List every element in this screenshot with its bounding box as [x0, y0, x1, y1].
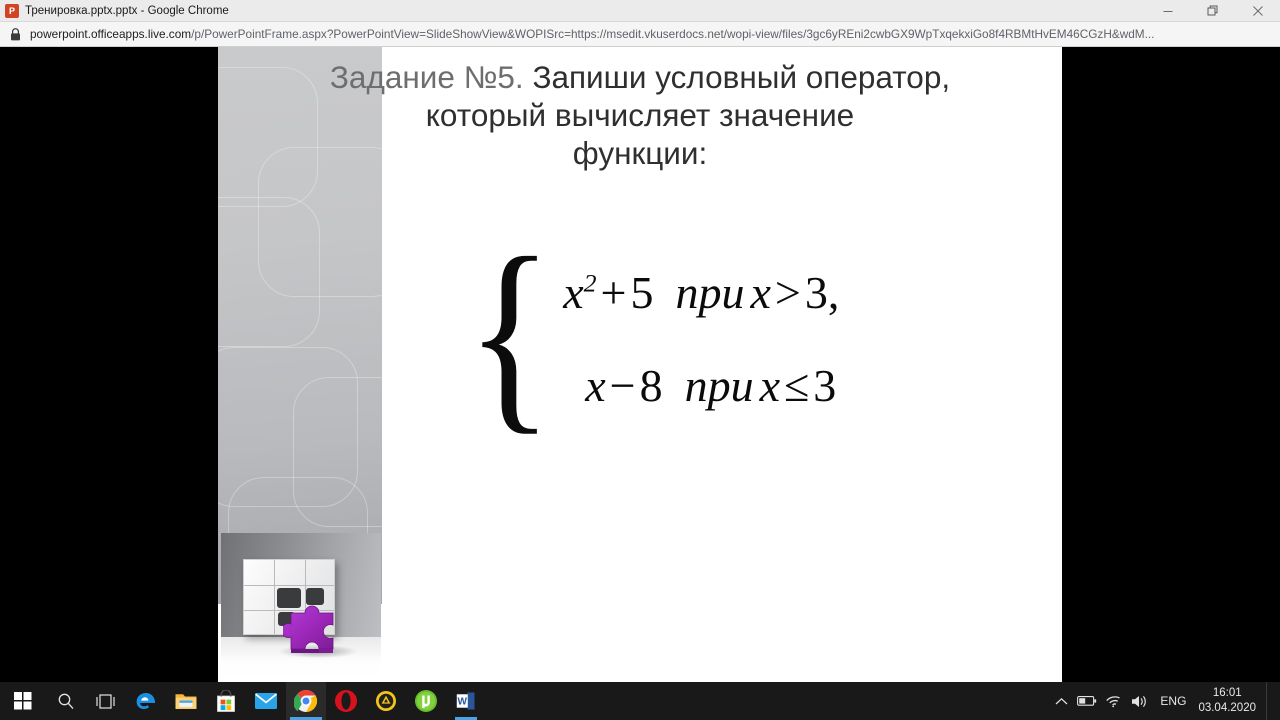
- slide-title-line1: Запиши условный оператор,: [532, 59, 950, 95]
- title-bar: P Тренировка.pptx.pptx - Google Chrome: [0, 0, 1280, 22]
- formula-brace: {: [466, 249, 554, 417]
- url-text: powerpoint.officeapps.live.com/p/PowerPo…: [30, 27, 1154, 41]
- edge-icon[interactable]: [126, 682, 166, 720]
- formula-case-2: x−8приx≤3: [563, 359, 839, 412]
- presentation-slide[interactable]: Задание №5. Запиши условный оператор, ко…: [218, 47, 1062, 682]
- case2-var: x: [760, 360, 780, 411]
- purple-puzzle-piece: [283, 599, 349, 655]
- clock-date: 03.04.2020: [1198, 701, 1256, 716]
- windows-taskbar: W: [0, 682, 1280, 720]
- clock-time: 16:01: [1198, 686, 1256, 701]
- ashampoo-icon[interactable]: [366, 682, 406, 720]
- case1-relation: >: [771, 267, 805, 318]
- language-indicator[interactable]: ENG: [1152, 694, 1194, 708]
- slide-title-line2: который вычисляет значение: [218, 97, 1062, 135]
- show-desktop-button[interactable]: [1266, 682, 1274, 720]
- utorrent-icon[interactable]: [406, 682, 446, 720]
- formula-cases: x2+5приx>3, x−8приx≤3: [563, 266, 839, 412]
- window-title: Тренировка.pptx.pptx - Google Chrome: [25, 5, 229, 17]
- case1-exponent: 2: [584, 269, 597, 298]
- file-explorer-icon[interactable]: [166, 682, 206, 720]
- start-button[interactable]: [0, 682, 46, 720]
- system-tray: ENG 16:01 03.04.2020: [1048, 682, 1280, 720]
- mail-icon[interactable]: [246, 682, 286, 720]
- case1-when: при: [653, 267, 750, 318]
- clock[interactable]: 16:01 03.04.2020: [1194, 686, 1264, 716]
- case1-base: x: [563, 267, 583, 318]
- slide-title-prefix: Задание №5.: [330, 59, 524, 95]
- url-domain: powerpoint.officeapps.live.com: [30, 27, 191, 41]
- restore-button[interactable]: [1190, 0, 1235, 22]
- close-button[interactable]: [1235, 0, 1280, 22]
- address-bar[interactable]: powerpoint.officeapps.live.com/p/PowerPo…: [0, 22, 1280, 47]
- slide-title: Задание №5. Запиши условный оператор, ко…: [218, 59, 1062, 172]
- battery-icon[interactable]: [1074, 682, 1100, 720]
- opera-icon[interactable]: [326, 682, 366, 720]
- puzzle-illustration-image: [221, 533, 381, 678]
- show-hidden-icons-chevron-up-icon[interactable]: [1048, 682, 1074, 720]
- case1-var: x: [750, 267, 770, 318]
- case2-when: при: [663, 360, 760, 411]
- slideshow-viewport[interactable]: Задание №5. Запиши условный оператор, ко…: [0, 47, 1280, 682]
- piecewise-formula: { x2+5приx>3, x−8приx≤3: [458, 255, 1018, 423]
- powerpoint-favicon-icon: P: [5, 4, 19, 18]
- lock-icon: [10, 28, 21, 41]
- svg-text:W: W: [457, 697, 467, 708]
- case1-operand: 5: [630, 267, 653, 318]
- formula-case-1: x2+5приx>3,: [563, 266, 839, 319]
- word-icon[interactable]: W: [446, 682, 486, 720]
- case1-value: 3,: [805, 267, 840, 318]
- slide-title-line3: функции:: [218, 135, 1062, 173]
- case2-relation: ≤: [780, 360, 813, 411]
- case1-operator: +: [597, 267, 631, 318]
- case2-operand: 8: [640, 360, 663, 411]
- task-view-icon[interactable]: [86, 682, 126, 720]
- minimize-button[interactable]: [1145, 0, 1190, 22]
- url-path: /p/PowerPointFrame.aspx?PowerPointView=S…: [191, 27, 1154, 41]
- microsoft-store-icon[interactable]: [206, 682, 246, 720]
- case2-operator: −: [606, 360, 640, 411]
- case2-value: 3: [813, 360, 836, 411]
- chrome-icon[interactable]: [286, 682, 326, 720]
- volume-icon[interactable]: [1126, 682, 1152, 720]
- browser-window: P Тренировка.pptx.pptx - Google Chrome p…: [0, 0, 1280, 682]
- case2-base: x: [585, 360, 605, 411]
- wifi-icon[interactable]: [1100, 682, 1126, 720]
- search-icon[interactable]: [46, 682, 86, 720]
